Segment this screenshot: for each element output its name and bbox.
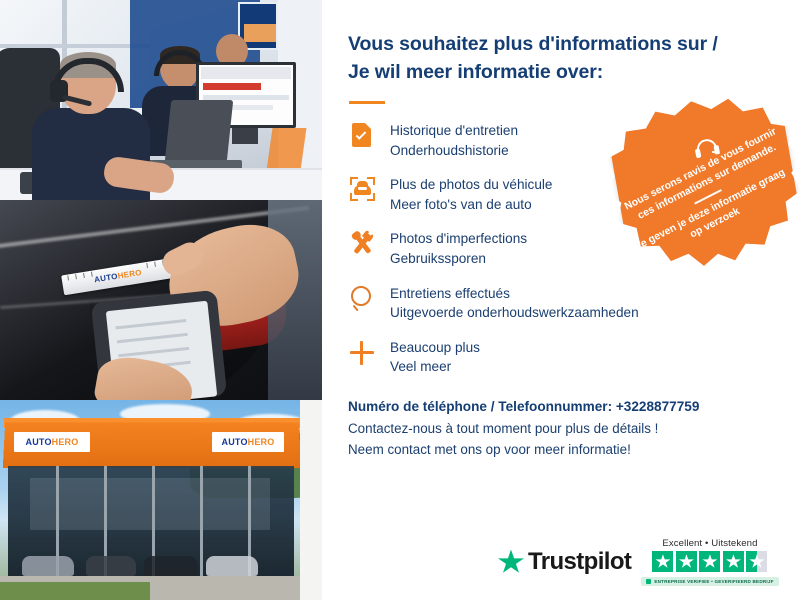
feature-text-nl: Veel meer (390, 357, 480, 377)
star-half (746, 551, 767, 572)
plus-icon (348, 338, 376, 368)
trustpilot-rating: Excellent • Uitstekend ENTREPRISE VERIFI… (641, 538, 778, 586)
trustpilot-stars (652, 551, 767, 572)
title-divider (349, 101, 385, 104)
contact-subtext: Contactez-nous à tout moment pour plus d… (348, 419, 776, 461)
list-item: Entretiens effectués Uitgevoerde onderho… (348, 283, 776, 323)
list-item: Beaucoup plus Veel meer (348, 337, 776, 377)
page-title-line-fr: Vous souhaitez plus d'informations sur / (348, 30, 776, 58)
feature-text-fr: Beaucoup plus (390, 340, 480, 355)
phone-number-label[interactable]: Numéro de téléphone / Telefoonnummer: +3… (348, 399, 776, 414)
contact-subtext-fr: Contactez-nous à tout moment pour plus d… (348, 419, 776, 440)
feature-text-fr: Historique d'entretien (390, 123, 518, 138)
promo-banner: AUTOHERO AUTOHERO AUTOHERO (0, 0, 800, 600)
ruler-brand-hero: HERO (117, 268, 142, 281)
trustpilot-rating-label: Excellent • Uitstekend (662, 538, 757, 549)
monitor-stand (232, 128, 258, 144)
feature-text: Plus de photos du véhicule Meer foto's v… (390, 174, 552, 214)
feature-text: Entretiens effectués Uitgevoerde onderho… (390, 283, 639, 323)
showroom-car (22, 556, 74, 576)
agent-one (38, 52, 142, 200)
verified-business-badge: ENTREPRISE VERIFIEE • GEVERIFIEERD BEDRI… (641, 577, 778, 586)
content-panel: Vous souhaitez plus d'informations sur /… (322, 0, 800, 600)
vehicle-inspection-photo: AUTOHERO (0, 200, 322, 400)
showroom-sign-left: AUTOHERO (14, 432, 90, 452)
star-filled (723, 551, 744, 572)
showroom-interior (30, 478, 270, 530)
ruler-brand-auto: AUTO (94, 272, 119, 285)
photo-column: AUTOHERO AUTOHERO AUTOHERO (0, 0, 322, 600)
verified-business-text: ENTREPRISE VERIFIEE • GEVERIFIEERD BEDRI… (654, 579, 773, 584)
feature-text-nl: Onderhoudshistorie (390, 141, 518, 161)
magnifier-icon (348, 284, 376, 314)
star-filled (699, 551, 720, 572)
showroom-car (144, 556, 198, 576)
grass-strip (0, 582, 150, 600)
feature-text-fr: Photos d'imperfections (390, 231, 527, 246)
car-scan-icon (348, 175, 376, 205)
feature-text-fr: Entretiens effectués (390, 286, 510, 301)
feature-text-fr: Plus de photos du véhicule (390, 177, 552, 192)
tools-icon (348, 229, 376, 259)
feature-text: Photos d'imperfections Gebruikssporen (390, 228, 527, 268)
feature-text-nl: Uitgevoerde onderhoudswerkzaamheden (390, 303, 639, 323)
page-title: Vous souhaitez plus d'informations sur /… (348, 30, 776, 86)
showroom-car (86, 556, 136, 576)
autohero-showroom-photo: AUTOHERO AUTOHERO (0, 400, 322, 600)
showroom-car (206, 556, 258, 576)
laptop-screen (165, 100, 234, 162)
feature-text: Beaucoup plus Veel meer (390, 337, 480, 377)
contact-subtext-nl: Neem contact met ons op voor meer inform… (348, 440, 776, 461)
feature-text: Historique d'entretien Onderhoudshistori… (390, 120, 518, 160)
page-title-line-nl: Je wil meer informatie over: (348, 58, 776, 86)
trustpilot-logo: Trustpilot (498, 548, 631, 576)
trustpilot-name: Trustpilot (528, 548, 631, 576)
feature-text-nl: Gebruikssporen (390, 249, 527, 269)
showroom-sign-right: AUTOHERO (212, 432, 284, 452)
star-filled (676, 551, 697, 572)
star-filled (652, 551, 673, 572)
availability-badge: Nous serons ravis de vous fournir ces in… (618, 100, 794, 272)
trustpilot-star-icon (498, 550, 524, 575)
call-center-agents-photo (0, 0, 322, 200)
document-check-icon (348, 121, 376, 151)
trustpilot-widget[interactable]: Trustpilot Excellent • Uitstekend ENTREP… (498, 538, 779, 586)
photo-right-edge (300, 400, 322, 600)
contact-block: Numéro de téléphone / Telefoonnummer: +3… (348, 399, 776, 461)
feature-text-nl: Meer foto's van de auto (390, 195, 552, 215)
verified-check-icon (646, 579, 651, 584)
